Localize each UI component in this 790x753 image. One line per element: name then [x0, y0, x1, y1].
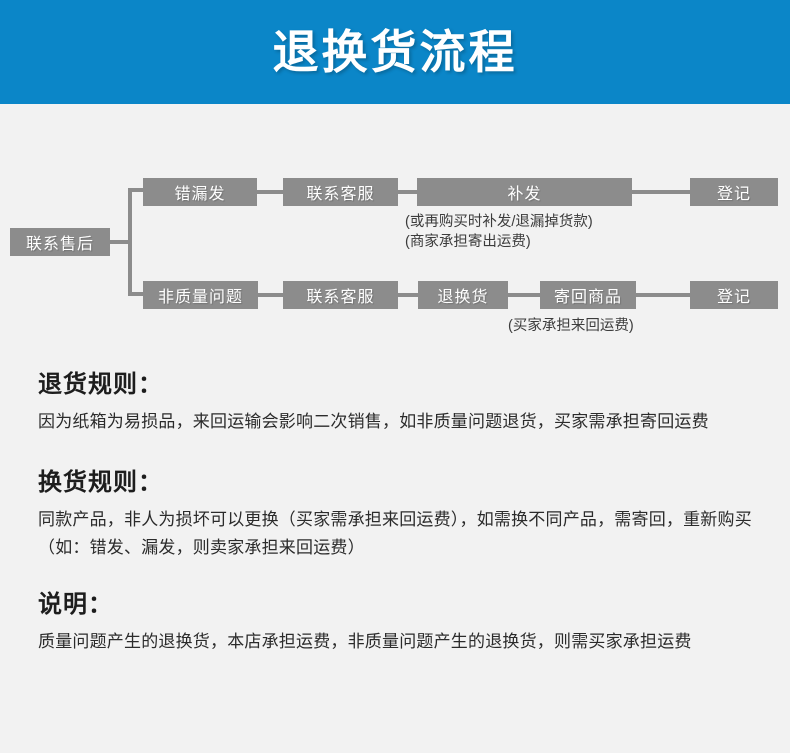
connector-bottom-2	[398, 293, 418, 297]
flow-note-reship-line-1: (或再购买时补发/退漏掉货款)	[405, 212, 593, 232]
flow-node-root: 联系售后	[10, 228, 110, 256]
section-return-rules-heading: 退货规则：	[38, 364, 752, 399]
connector-top-3	[632, 190, 690, 194]
page-title: 退换货流程	[273, 29, 518, 75]
flow-node-return-exchange: 退换货	[418, 281, 508, 309]
policy-sections: 退货规则： 因为纸箱为易损品，来回运输会影响二次销售，如非质量问题退货，买家需承…	[0, 364, 790, 656]
section-exchange-rules-body: 同款产品，非人为损坏可以更换（买家需承担来回运费），如需换不同产品，需寄回，重新…	[38, 506, 752, 562]
return-exchange-infographic: 退换货流程 联系售后 错漏发 联系客服 补发 登记 (或再购买时补发/退漏掉货款…	[0, 0, 790, 753]
flow-note-return-shipping: (买家承担来回运费)	[508, 316, 634, 336]
connector-branch-spine	[128, 188, 132, 296]
flow-node-contact-service-top: 联系客服	[283, 178, 398, 206]
flow-node-register-bottom: 登记	[690, 281, 778, 309]
flow-node-register-top: 登记	[690, 178, 778, 206]
flow-note-reship-line-2: (商家承担寄出运费)	[405, 232, 531, 252]
section-return-rules-body: 因为纸箱为易损品，来回运输会影响二次销售，如非质量问题退货，买家需承担寄回运费	[38, 408, 752, 436]
returns-flowchart: 联系售后 错漏发 联系客服 补发 登记 (或再购买时补发/退漏掉货款) (商家承…	[0, 104, 790, 354]
section-divider-2	[0, 562, 790, 584]
flow-node-reship: 补发	[417, 178, 632, 206]
flow-node-ship-back-goods: 寄回商品	[540, 281, 636, 309]
connector-bottom-3	[508, 293, 540, 297]
section-divider-1	[0, 436, 790, 462]
connector-top-2	[398, 190, 418, 194]
flow-node-contact-service-bottom: 联系客服	[283, 281, 398, 309]
connector-top-1	[257, 190, 283, 194]
section-notes-body: 质量问题产生的退换货，本店承担运费，非质量问题产生的退换货，则需买家承担运费	[38, 628, 752, 656]
section-notes-heading: 说明：	[38, 584, 752, 619]
connector-bottom-4	[636, 293, 690, 297]
section-return-rules: 退货规则： 因为纸箱为易损品，来回运输会影响二次销售，如非质量问题退货，买家需承…	[0, 364, 790, 436]
section-exchange-rules-heading: 换货规则：	[38, 462, 752, 497]
connector-bottom-1	[258, 293, 283, 297]
page-banner: 退换货流程	[0, 0, 790, 104]
flow-node-non-quality-issue: 非质量问题	[143, 281, 258, 309]
flow-node-wrong-missing-shipment: 错漏发	[143, 178, 257, 206]
section-exchange-rules: 换货规则： 同款产品，非人为损坏可以更换（买家需承担来回运费），如需换不同产品，…	[0, 462, 790, 562]
section-notes: 说明： 质量问题产生的退换货，本店承担运费，非质量问题产生的退换货，则需买家承担…	[0, 584, 790, 656]
